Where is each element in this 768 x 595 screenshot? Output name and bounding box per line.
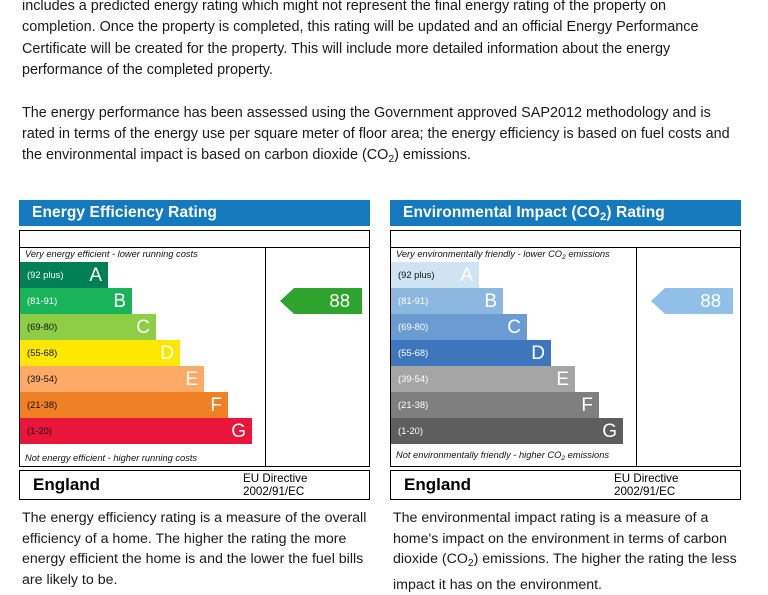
rating-band-g: (1-20)G [20,418,265,444]
band-letter-label: G [231,422,248,441]
environmental-title-part2: ) Rating [606,204,665,221]
efficiency-caption-bottom: Not energy efficient - higher running co… [20,452,197,465]
impact-caption-bottom: Not environmentally friendly - higher CO… [391,449,609,465]
band-fill: (21-38)F [391,392,599,418]
band-fill: (55-68)D [20,340,180,366]
band-fill: (92 plus)A [20,262,108,288]
impact-directive-line2: 2002/91/EC [614,485,732,498]
rating-band-e: (39-54)E [20,366,265,392]
band-range-label: (1-20) [398,426,423,435]
chart-header-row [20,231,369,248]
efficiency-footer: England EU Directive 2002/91/EC [19,470,370,500]
impact-caption-top-part2: emissions [566,249,610,259]
intro-paragraph-2: The energy performance has been assessed… [22,103,738,171]
rating-band-d: (55-68)D [391,340,636,366]
band-range-label: (81-91) [27,296,57,305]
band-fill: (55-68)D [391,340,551,366]
band-fill: (1-20)G [20,418,252,444]
intro-paragraph-2-part2: ) emissions. [394,147,471,163]
environmental-impact-panel: Environmental Impact (CO2) Rating Very e… [390,200,741,500]
efficiency-explanation: The energy efficiency rating is a measur… [22,508,370,590]
band-letter-label: G [602,422,619,441]
band-fill: (39-54)E [391,366,575,392]
impact-caption-bottom-part2: emissions [565,450,609,460]
chart-body-row: Very energy efficient - lower running co… [20,248,369,466]
column-divider [636,248,637,466]
environmental-impact-score-arrow: 88 [651,288,733,314]
band-letter-label: B [113,292,128,311]
impact-caption-bottom-part1: Not environmentally friendly - higher CO [396,450,561,460]
band-range-label: (55-68) [27,348,57,357]
band-range-label: (69-80) [398,322,428,331]
impact-directive-line1: EU Directive [614,472,732,485]
efficiency-country-label: England [20,475,243,495]
intro-text-block: includes a predicted energy rating which… [22,0,738,171]
efficiency-directive-line1: EU Directive [243,472,361,485]
impact-directive: EU Directive 2002/91/EC [614,472,740,499]
band-fill: (81-91)B [391,288,503,314]
rating-band-b: (81-91)B [391,288,636,314]
band-range-label: (21-38) [27,400,57,409]
band-letter-label: F [581,396,595,415]
band-letter-label: D [160,344,176,363]
band-letter-label: E [185,370,200,389]
band-range-label: (1-20) [27,426,52,435]
environmental-title-part1: Environmental Impact (CO [403,204,600,221]
impact-footer: England EU Directive 2002/91/EC [390,470,741,500]
intro-paragraph-2-part1: The energy performance has been assessed… [22,105,730,164]
band-range-label: (92 plus) [27,270,63,279]
column-divider [265,248,266,466]
efficiency-caption-top: Very energy efficient - lower running co… [20,248,369,261]
environmental-impact-title: Environmental Impact (CO2) Rating [390,200,741,226]
band-fill: (81-91)B [20,288,132,314]
chart-header-row [391,231,740,248]
rating-band-a: (92 plus)A [391,262,636,288]
band-letter-label: F [210,396,224,415]
impact-country-label: England [391,475,614,495]
band-letter-label: A [89,266,104,285]
band-letter-label: C [507,318,523,337]
band-fill: (1-20)G [391,418,623,444]
band-fill: (39-54)E [20,366,204,392]
band-fill: (69-80)C [391,314,527,340]
band-range-label: (55-68) [398,348,428,357]
band-letter-label: E [556,370,571,389]
band-range-label: (81-91) [398,296,428,305]
energy-efficiency-score-wrap: 88 [272,288,370,314]
energy-efficiency-title: Energy Efficiency Rating [19,200,370,226]
rating-band-g: (1-20)G [391,418,636,444]
band-letter-label: B [484,292,499,311]
efficiency-directive-line2: 2002/91/EC [243,485,361,498]
band-fill: (92 plus)A [391,262,479,288]
efficiency-directive: EU Directive 2002/91/EC [243,472,369,499]
rating-band-c: (69-80)C [20,314,265,340]
band-letter-label: C [136,318,152,337]
band-range-label: (69-80) [27,322,57,331]
rating-band-f: (21-38)F [391,392,636,418]
band-letter-label: D [531,344,547,363]
environmental-impact-bands: (92 plus)A(81-91)B(69-80)C(55-68)D(39-54… [391,262,636,444]
band-range-label: (39-54) [27,374,57,383]
environmental-impact-chart: Very environmentally friendly - lower CO… [390,230,741,467]
band-range-label: (39-54) [398,374,428,383]
intro-paragraph-1: includes a predicted energy rating which… [22,0,738,82]
energy-efficiency-bands: (92 plus)A(81-91)B(69-80)C(55-68)D(39-54… [20,262,265,444]
impact-explanation: The environmental impact rating is a mea… [393,508,745,595]
energy-efficiency-score-arrow: 88 [280,288,362,314]
band-fill: (69-80)C [20,314,156,340]
energy-efficiency-panel: Energy Efficiency Rating Very energy eff… [19,200,370,500]
rating-band-d: (55-68)D [20,340,265,366]
rating-band-f: (21-38)F [20,392,265,418]
energy-efficiency-chart: Very energy efficient - lower running co… [19,230,370,467]
rating-band-b: (81-91)B [20,288,265,314]
band-range-label: (92 plus) [398,270,434,279]
band-letter-label: A [460,266,475,285]
band-fill: (21-38)F [20,392,228,418]
impact-caption-top-part1: Very environmentally friendly - lower CO [396,249,562,259]
band-range-label: (21-38) [398,400,428,409]
rating-band-e: (39-54)E [391,366,636,392]
chart-body-row: Very environmentally friendly - lower CO… [391,248,740,466]
rating-band-a: (92 plus)A [20,262,265,288]
environmental-impact-score-wrap: 88 [643,288,741,314]
rating-band-c: (69-80)C [391,314,636,340]
